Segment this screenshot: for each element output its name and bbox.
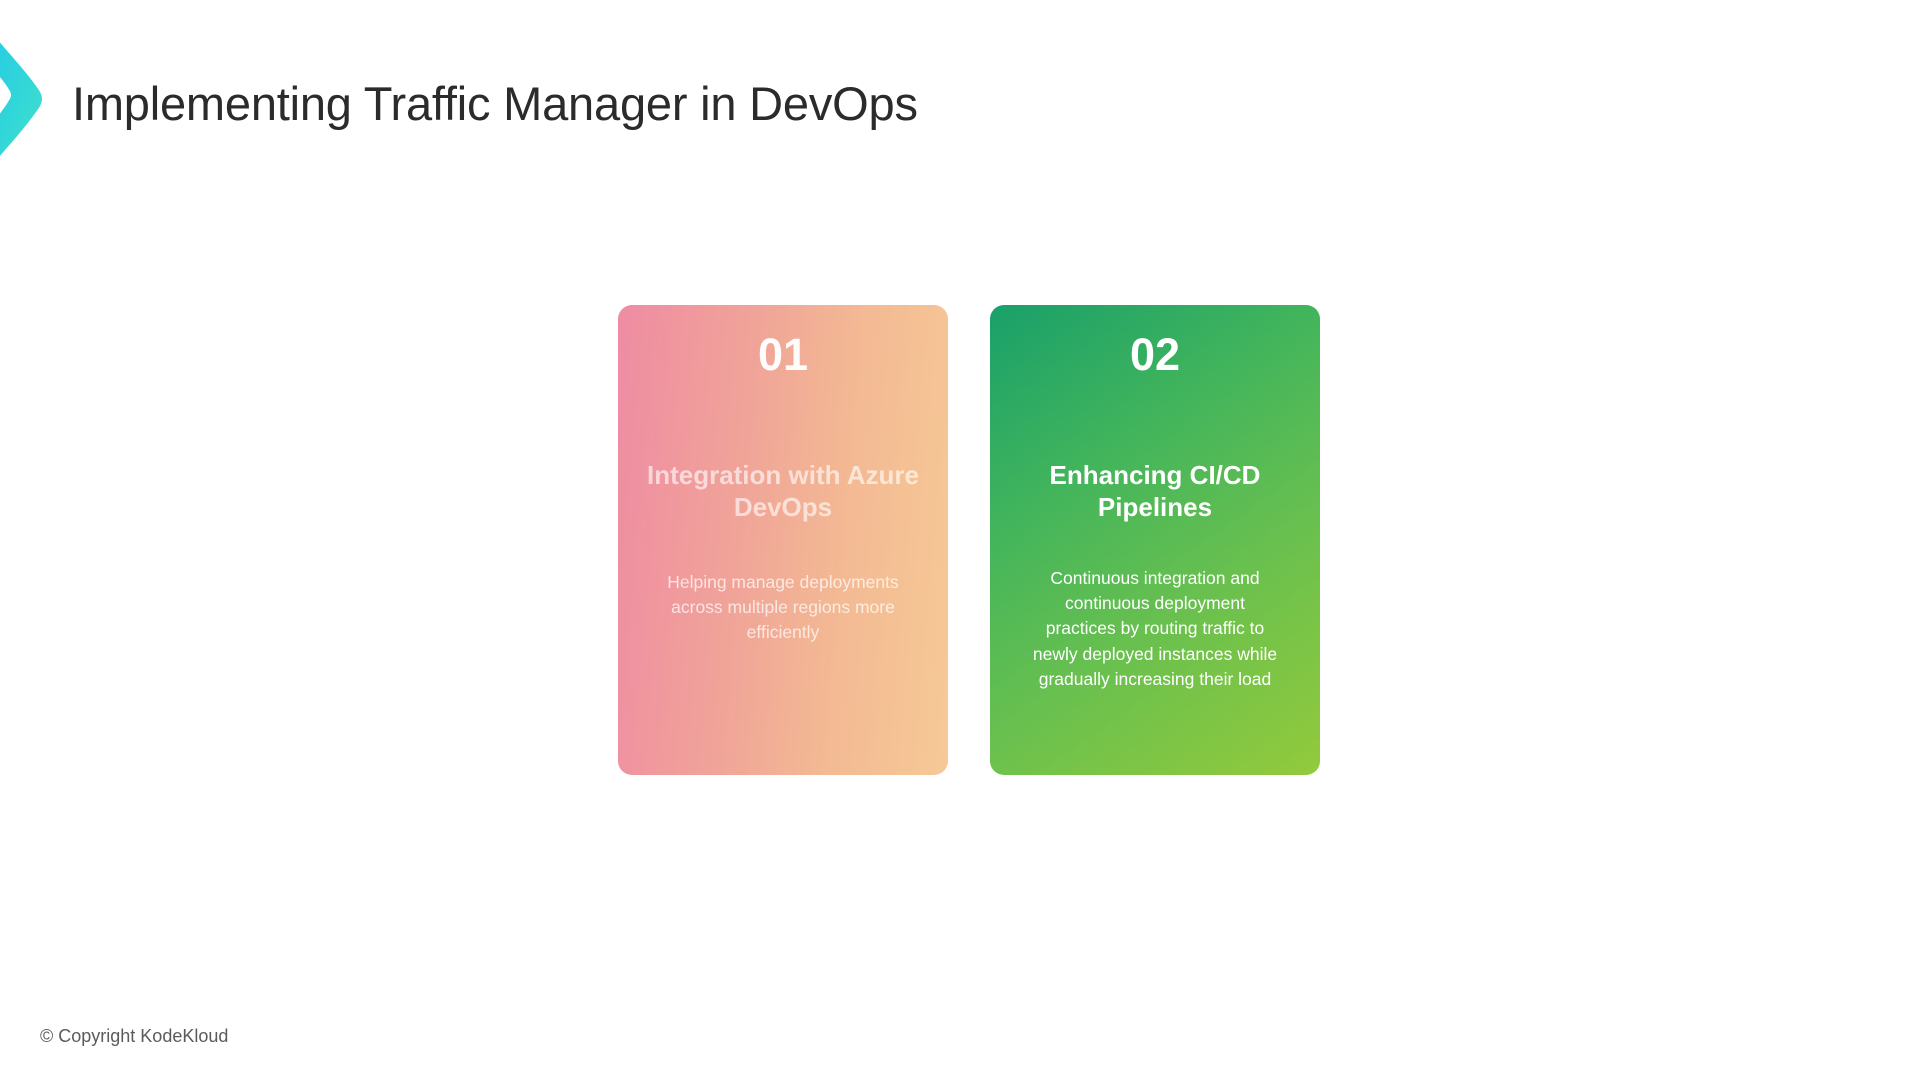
page-title: Implementing Traffic Manager in DevOps (72, 78, 918, 131)
card-title: Enhancing CI/CD Pipelines (1015, 460, 1295, 523)
card-number: 02 (1130, 331, 1180, 378)
footer-copyright: © Copyright KodeKloud (40, 1026, 228, 1047)
chevron-right-icon (0, 8, 64, 176)
card-enhancing-cicd-pipelines[interactable]: 02 Enhancing CI/CD Pipelines Continuous … (990, 305, 1320, 775)
card-number: 01 (758, 331, 808, 378)
cards-container: 01 Integration with Azure DevOps Helping… (618, 305, 1320, 775)
card-title: Integration with Azure DevOps (643, 460, 923, 523)
card-integration-with-azure-devops[interactable]: 01 Integration with Azure DevOps Helping… (618, 305, 948, 775)
card-body: Continuous integration and continuous de… (1033, 566, 1278, 693)
card-body: Helping manage deployments across multip… (658, 570, 908, 646)
